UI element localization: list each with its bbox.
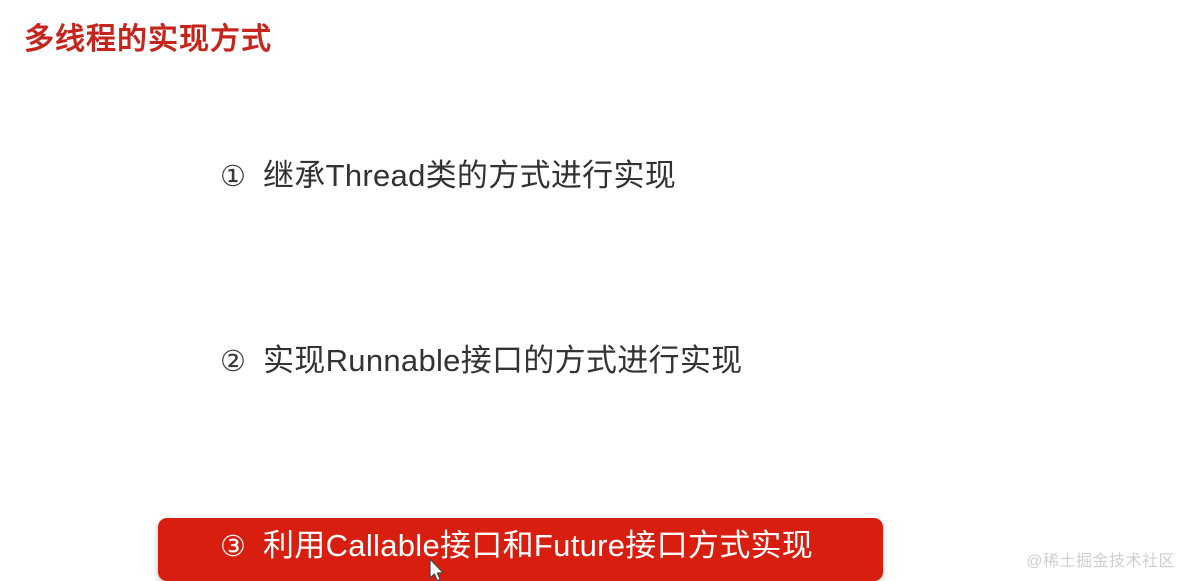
circled-number-two-icon: ② xyxy=(220,344,246,378)
circled-number-three-icon: ③ xyxy=(220,529,246,563)
list-item[interactable]: ① 继承Thread类的方式进行实现 xyxy=(220,158,676,194)
list-item-label: 实现Runnable接口的方式进行实现 xyxy=(263,343,742,379)
watermark-text: @稀土掘金技术社区 xyxy=(1026,551,1175,573)
list-item-highlighted[interactable]: ③ 利用Callable接口和Future接口方式实现 xyxy=(220,528,813,564)
page-title: 多线程的实现方式 xyxy=(24,20,272,60)
list-item[interactable]: ② 实现Runnable接口的方式进行实现 xyxy=(220,343,742,379)
slide-canvas: 多线程的实现方式 ① 继承Thread类的方式进行实现 ② 实现Runnable… xyxy=(0,0,1183,581)
list-item-label: 继承Thread类的方式进行实现 xyxy=(263,158,676,194)
list-item-label: 利用Callable接口和Future接口方式实现 xyxy=(263,528,813,564)
circled-number-one-icon: ① xyxy=(220,159,246,193)
